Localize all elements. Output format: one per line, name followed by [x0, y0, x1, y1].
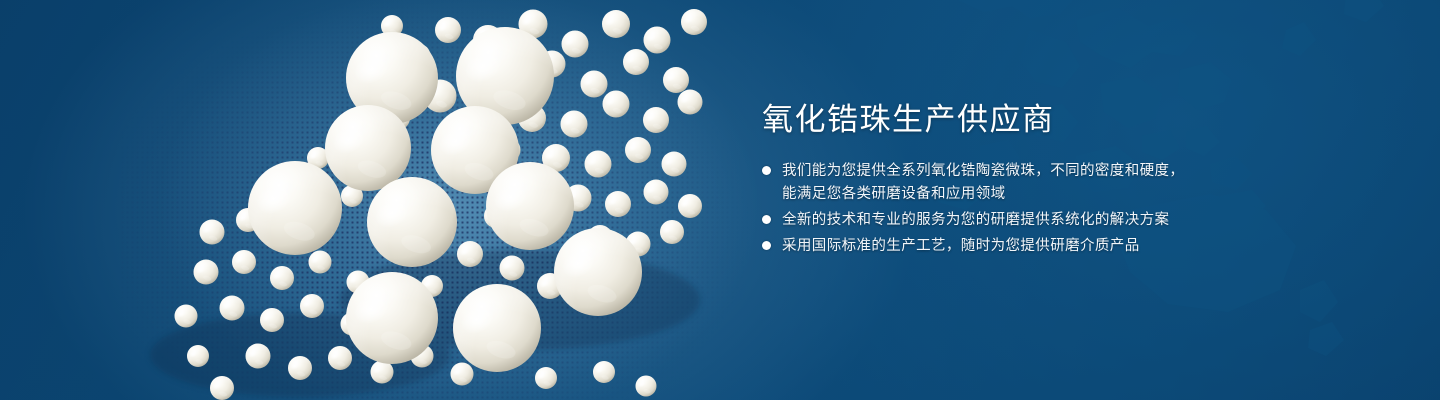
cluster-glow: [150, 0, 770, 400]
bullet-item-text: 采用国际标准的生产工艺，随时为您提供研磨介质产品: [782, 235, 1140, 258]
bullet-line-1: 我们能为您提供全系列氧化锆陶瓷微珠，不同的密度和硬度，: [782, 163, 1184, 179]
bullet-line-1: 全新的技术和专业的服务为您的研磨提供系统化的解决方案: [782, 212, 1169, 228]
banner-text-block: 氧化锆珠生产供应商 我们能为您提供全系列氧化锆陶瓷微珠，不同的密度和硬度， 能满…: [762, 104, 1322, 261]
bullet-item-text: 我们能为您提供全系列氧化锆陶瓷微珠，不同的密度和硬度， 能满足您各类研磨设备和应…: [782, 160, 1184, 206]
bullet-item: 采用国际标准的生产工艺，随时为您提供研磨介质产品: [762, 235, 1322, 258]
banner-bullet-list: 我们能为您提供全系列氧化锆陶瓷微珠，不同的密度和硬度， 能满足您各类研磨设备和应…: [762, 160, 1322, 258]
bullet-dot-icon: [762, 241, 771, 250]
bullet-line-1: 采用国际标准的生产工艺，随时为您提供研磨介质产品: [782, 238, 1140, 254]
halftone-dot-texture: [120, 0, 760, 400]
bullet-item: 我们能为您提供全系列氧化锆陶瓷微珠，不同的密度和硬度， 能满足您各类研磨设备和应…: [762, 160, 1322, 206]
bullet-dot-icon: [762, 215, 771, 224]
bullet-item: 全新的技术和专业的服务为您的研磨提供系统化的解决方案: [762, 209, 1322, 232]
banner-title: 氧化锆珠生产供应商: [762, 104, 1322, 135]
bullet-dot-icon: [762, 166, 771, 175]
bullet-line-2: 能满足您各类研磨设备和应用领域: [782, 183, 1184, 206]
bullet-item-text: 全新的技术和专业的服务为您的研磨提供系统化的解决方案: [782, 209, 1169, 232]
hero-banner: 氧化锆珠生产供应商 我们能为您提供全系列氧化锆陶瓷微珠，不同的密度和硬度， 能满…: [0, 0, 1440, 400]
